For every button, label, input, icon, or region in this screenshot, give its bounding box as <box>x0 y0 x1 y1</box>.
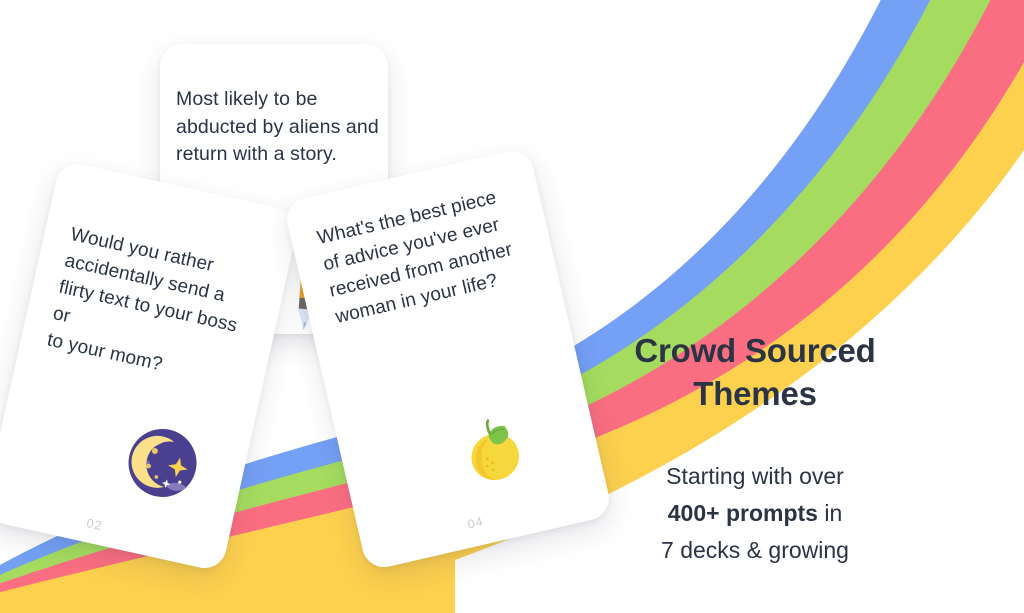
night-with-stars-emoji <box>117 419 206 512</box>
prompt-card-text: Would you rather accidentally send a fli… <box>44 222 268 397</box>
subline-3: 7 decks & growing <box>574 532 936 569</box>
copy-block: Crowd Sourced Themes Starting with over … <box>574 330 936 570</box>
subline-2: 400+ prompts in <box>574 495 936 532</box>
headline: Crowd Sourced Themes <box>574 330 936 416</box>
promo-banner: Most likely to be abducted by aliens and… <box>0 0 1024 613</box>
subline-1: Starting with over <box>574 458 936 495</box>
lemon-emoji <box>455 410 538 496</box>
prompt-count: 400+ prompts <box>668 500 818 526</box>
prompt-card-text: What's the best piece of advice you've e… <box>315 180 539 331</box>
prompt-card-right[interactable]: What's the best piece of advice you've e… <box>283 147 614 572</box>
card-number: 02 <box>85 516 104 533</box>
subline-2-tail: in <box>818 500 842 526</box>
prompt-card-text: Most likely to be abducted by aliens and… <box>176 86 381 169</box>
prompt-card-left[interactable]: Would you rather accidentally send a fli… <box>0 160 301 573</box>
card-number: 04 <box>466 514 485 531</box>
